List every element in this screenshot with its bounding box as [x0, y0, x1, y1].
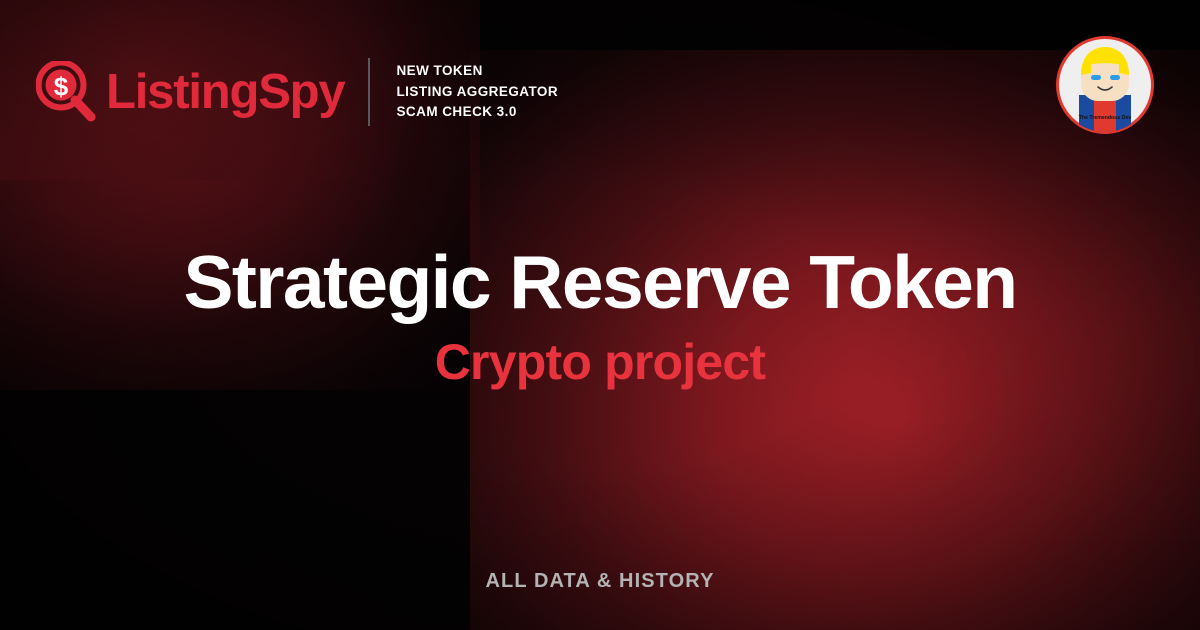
- avatar-blonde-character-icon: The Tremendous Dev: [1053, 33, 1157, 137]
- magnifier-dollar-icon: $: [36, 61, 98, 123]
- avatar: The Tremendous Dev: [1053, 33, 1157, 137]
- brand-tagline: NEW TOKEN LISTING AGGREGATOR SCAM CHECK …: [396, 61, 558, 123]
- footer-caption: ALL DATA & HISTORY: [0, 570, 1200, 593]
- tagline-line-2: LISTING AGGREGATOR: [396, 82, 558, 103]
- avatar-jersey-text: The Tremendous Dev: [1079, 115, 1132, 121]
- brand-wordmark: ListingSpy: [106, 68, 344, 117]
- header-divider: [368, 58, 370, 126]
- page-subtitle: Crypto project: [0, 335, 1200, 390]
- hero-block: Strategic Reserve Token Crypto project: [0, 243, 1200, 390]
- tagline-line-1: NEW TOKEN: [396, 61, 558, 82]
- brand-header: $ ListingSpy NEW TOKEN LISTING AGGREGATO…: [36, 54, 558, 130]
- promo-banner: $ ListingSpy NEW TOKEN LISTING AGGREGATO…: [0, 0, 1200, 630]
- svg-text:$: $: [54, 72, 69, 102]
- page-title: Strategic Reserve Token: [0, 243, 1200, 323]
- tagline-line-3: SCAM CHECK 3.0: [396, 102, 558, 123]
